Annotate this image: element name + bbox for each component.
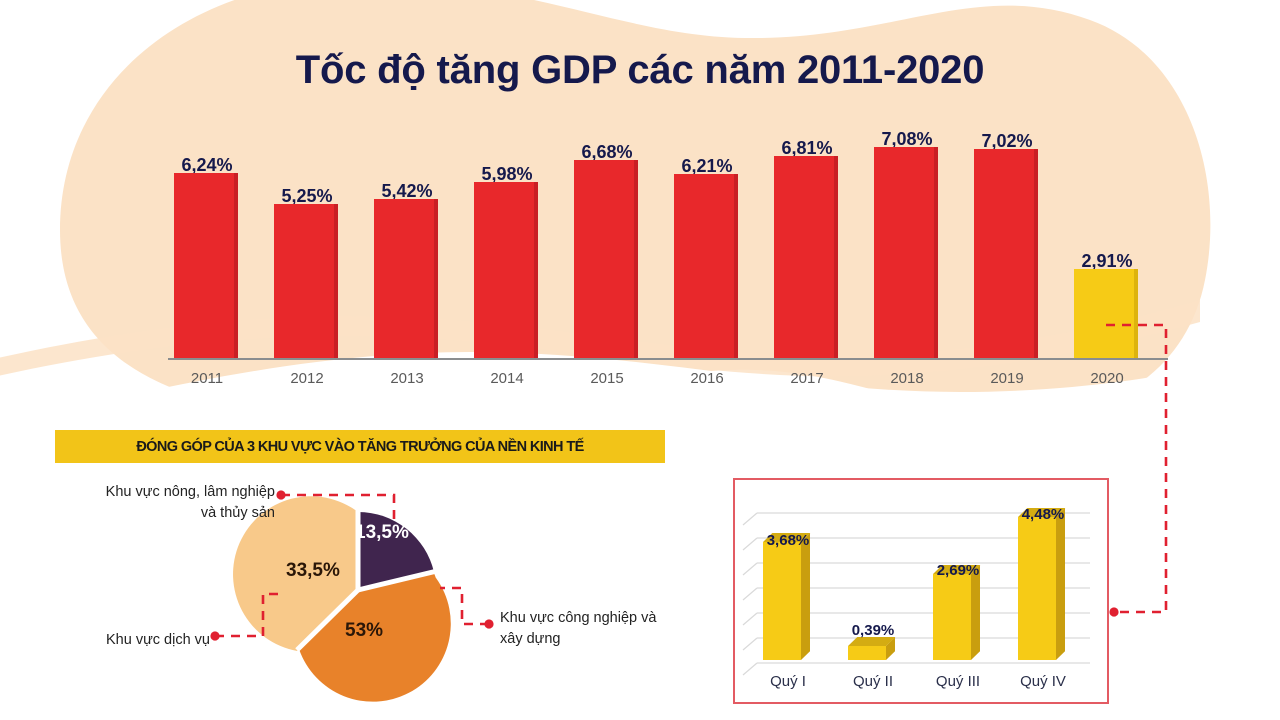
quarter-bar — [1018, 517, 1065, 660]
quarter-category-label: Quý III — [915, 673, 1001, 690]
quarter-bar — [933, 574, 980, 660]
connector-services — [215, 594, 283, 636]
quarter-category-label: Quý I — [745, 673, 831, 690]
quarter-category-label: Quý II — [830, 673, 916, 690]
quarter-bar — [763, 542, 810, 660]
quarter-value-label: 2,69% — [915, 562, 1001, 579]
quarter-value-label: 0,39% — [830, 622, 916, 639]
quarter-category-label: Quý IV — [1000, 673, 1086, 690]
connector-2020-to-quarters — [1106, 325, 1166, 612]
quarter-value-label: 3,68% — [745, 532, 831, 549]
quarterly-chart-box: 3,68% Quý I 0,39% Quý II 2,69% Quý III 4… — [733, 478, 1109, 704]
quarter-value-label: 4,48% — [1000, 506, 1086, 523]
quarter-bar — [848, 646, 895, 660]
infographic-canvas: Tốc độ tăng GDP các năm 2011-2020 6,24% … — [0, 0, 1280, 720]
connector-industry — [440, 588, 489, 624]
connector-agriculture — [281, 495, 394, 520]
